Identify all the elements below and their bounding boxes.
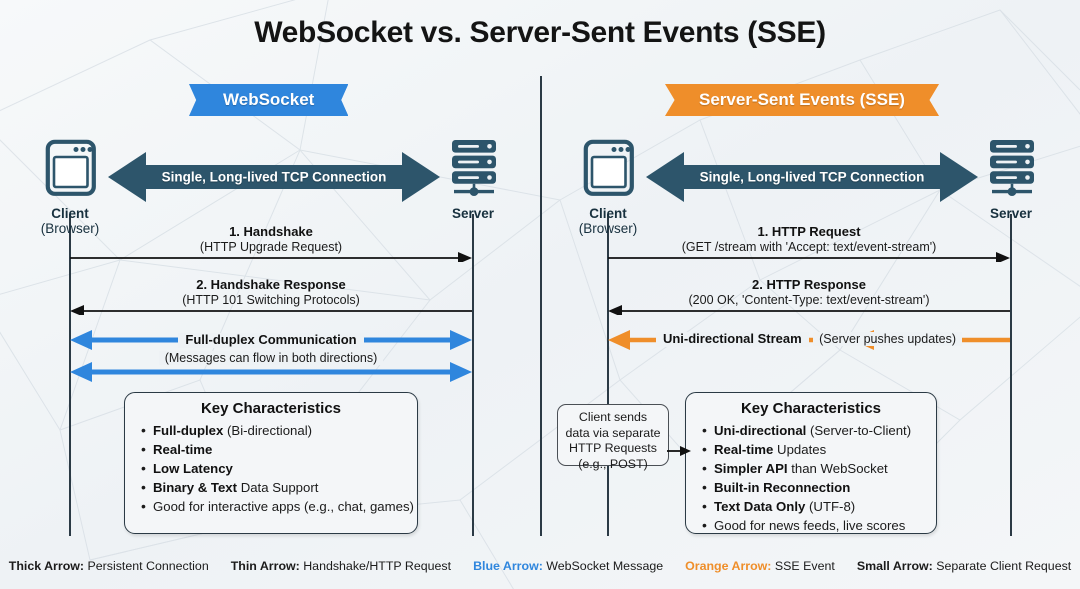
sse-client-lifeline	[607, 214, 609, 536]
list-item: Binary & Text Data Support	[153, 478, 405, 497]
sse-persistent-arrow-label: Single, Long-lived TCP Connection	[646, 170, 978, 185]
message-title: 1. HTTP Request	[608, 224, 1010, 239]
sse-message-1-text: 1. HTTP Request (GET /stream with 'Accep…	[608, 224, 1010, 254]
browser-window-icon	[560, 138, 656, 198]
sse-message-2: 2. HTTP Response (200 OK, 'Content-Type:…	[608, 271, 1010, 315]
list-item: Built-in Reconnection	[714, 478, 924, 497]
legend-term: Thick Arrow:	[9, 559, 84, 573]
message-title: 1. Handshake	[70, 224, 472, 239]
sse-key-characteristics-box: Key Characteristics Uni-directional (Ser…	[685, 392, 937, 534]
legend-item-thick-arrow: Thick Arrow: Persistent Connection	[9, 559, 209, 573]
list-item: Good for news feeds, live scores	[714, 516, 924, 535]
sse-unidirectional-label: Uni-directional Stream (Server pushes up…	[608, 330, 1010, 348]
flow-title: Uni-directional Stream	[656, 332, 809, 347]
websocket-server-lifeline	[472, 214, 474, 536]
websocket-fullduplex-flow: Full-duplex Communication (Messages can …	[70, 326, 472, 382]
key-characteristics-list: Full-duplex (Bi-directional) Real-time L…	[137, 421, 405, 516]
websocket-message-2: 2. Handshake Response (HTTP 101 Switchin…	[70, 271, 472, 315]
sse-server-lifeline	[1010, 214, 1012, 536]
badge-sse: Server-Sent Events (SSE)	[665, 84, 939, 116]
flow-detail: (Messages can flow in both directions)	[159, 351, 384, 365]
sse-unidirectional-flow: Uni-directional Stream (Server pushes up…	[608, 326, 1010, 374]
legend: Thick Arrow: Persistent Connection Thin …	[0, 559, 1080, 573]
websocket-message-1-text: 1. Handshake (HTTP Upgrade Request)	[70, 224, 472, 254]
message-title: 2. HTTP Response	[608, 277, 1010, 292]
page-title: WebSocket vs. Server-Sent Events (SSE)	[0, 16, 1080, 50]
websocket-message-2-text: 2. Handshake Response (HTTP 101 Switchin…	[70, 277, 472, 307]
message-detail: (HTTP Upgrade Request)	[70, 240, 472, 255]
small-arrow-right-icon	[667, 444, 691, 458]
websocket-persistent-arrow-label: Single, Long-lived TCP Connection	[108, 170, 440, 185]
websocket-key-characteristics-box: Key Characteristics Full-duplex (Bi-dire…	[124, 392, 418, 534]
websocket-persistent-arrow: Single, Long-lived TCP Connection	[108, 148, 440, 206]
legend-item-thin-arrow: Thin Arrow: Handshake/HTTP Request	[231, 559, 451, 573]
note-text: Client sendsdata via separateHTTP Reques…	[565, 410, 660, 471]
list-item: Real-time	[153, 440, 405, 459]
list-item: Low Latency	[153, 459, 405, 478]
list-item: Text Data Only (UTF-8)	[714, 497, 924, 516]
legend-term: Thin Arrow:	[231, 559, 300, 573]
flow-detail: (Server pushes updates)	[813, 332, 962, 346]
sse-client-request-note: Client sendsdata via separateHTTP Reques…	[557, 404, 669, 466]
badge-websocket: WebSocket	[189, 84, 348, 116]
legend-desc: Persistent Connection	[84, 559, 209, 573]
flow-title: Full-duplex Communication	[178, 333, 363, 348]
list-item: Good for interactive apps (e.g., chat, g…	[153, 497, 405, 516]
message-title: 2. Handshake Response	[70, 277, 472, 292]
sse-message-2-text: 2. HTTP Response (200 OK, 'Content-Type:…	[608, 277, 1010, 307]
key-characteristics-heading: Key Characteristics	[698, 400, 924, 417]
list-item: Full-duplex (Bi-directional)	[153, 421, 405, 440]
list-item: Uni-directional (Server-to-Client)	[714, 421, 924, 440]
message-detail: (200 OK, 'Content-Type: text/event-strea…	[608, 293, 1010, 308]
websocket-fullduplex-label: Full-duplex Communication (Messages can …	[70, 331, 472, 367]
sse-persistent-arrow: Single, Long-lived TCP Connection	[646, 148, 978, 206]
legend-item-small-arrow: Small Arrow: Separate Client Request	[857, 559, 1071, 573]
browser-window-icon	[22, 138, 118, 198]
panel-divider	[540, 76, 542, 536]
key-characteristics-heading: Key Characteristics	[137, 400, 405, 417]
key-characteristics-list: Uni-directional (Server-to-Client) Real-…	[698, 421, 924, 535]
legend-item-orange-arrow: Orange Arrow: SSE Event	[685, 559, 835, 573]
legend-desc: SSE Event	[771, 559, 834, 573]
message-detail: (HTTP 101 Switching Protocols)	[70, 293, 472, 308]
websocket-message-1: 1. Handshake (HTTP Upgrade Request)	[70, 218, 472, 262]
legend-desc: Handshake/HTTP Request	[300, 559, 451, 573]
legend-term: Blue Arrow:	[473, 559, 543, 573]
legend-desc: Separate Client Request	[933, 559, 1071, 573]
list-item: Simpler API than WebSocket	[714, 459, 924, 478]
legend-item-blue-arrow: Blue Arrow: WebSocket Message	[473, 559, 663, 573]
message-detail: (GET /stream with 'Accept: text/event-st…	[608, 240, 1010, 255]
legend-term: Orange Arrow:	[685, 559, 771, 573]
list-item: Real-time Updates	[714, 440, 924, 459]
sse-message-1: 1. HTTP Request (GET /stream with 'Accep…	[608, 218, 1010, 262]
legend-desc: WebSocket Message	[543, 559, 663, 573]
legend-term: Small Arrow:	[857, 559, 933, 573]
